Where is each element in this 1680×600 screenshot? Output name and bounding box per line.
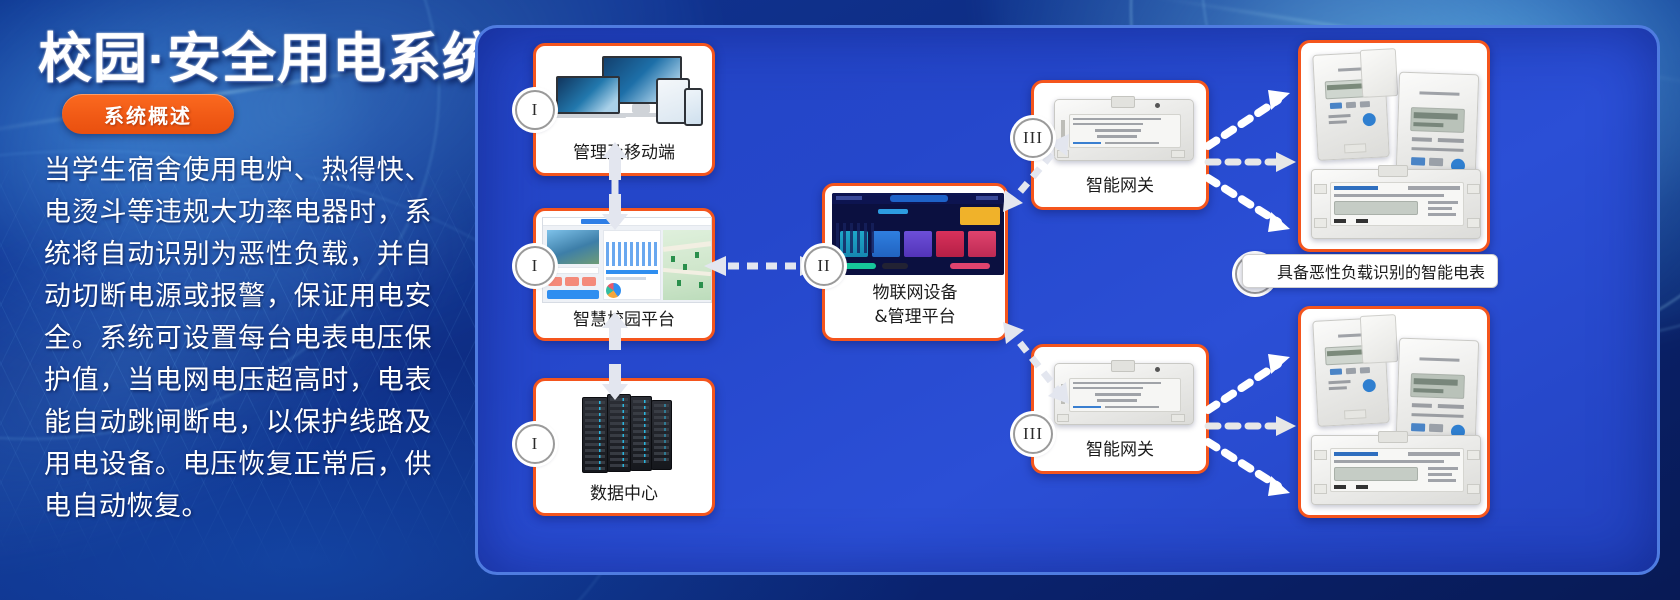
numeral-badge-gateway-top: III	[1013, 118, 1053, 158]
numeral-text: III	[1023, 128, 1043, 148]
section-badge-label: 系统概述	[104, 100, 192, 129]
numeral-badge-campus-platform: I	[515, 246, 555, 286]
connector-iot-to-gateway-bottom	[1003, 322, 1069, 404]
intro-panel: 校园·安全用电系统 系统概述 当学生宿舍使用电炉、热得快、电烫斗等违规大功率电器…	[0, 0, 470, 600]
numeral-badge-gateway-bottom: III	[1013, 414, 1053, 454]
poster-canvas: 校园·安全用电系统 系统概述 当学生宿舍使用电炉、热得快、电烫斗等违规大功率电器…	[0, 0, 1680, 600]
numeral-text: I	[532, 434, 539, 454]
numeral-badge-management: I	[515, 90, 555, 130]
numeral-badge-data-center: I	[515, 424, 555, 464]
numeral-text: I	[532, 256, 539, 276]
section-badge: 系统概述	[62, 94, 234, 134]
connector-management-to-platform	[602, 142, 628, 230]
numeral-text: III	[1023, 424, 1043, 444]
overview-paragraph: 当学生宿舍使用电炉、热得快、电烫斗等违规大功率电器时，系统将自动识别为恶性负载，…	[44, 150, 432, 528]
connector-platform-to-datacenter	[602, 312, 628, 400]
numeral-text: I	[532, 100, 539, 120]
smart-meters-caption[interactable]: 具备恶性负载识别的智能电表	[1242, 254, 1498, 288]
connector-layer	[478, 28, 1660, 575]
numeral-text: II	[817, 256, 830, 276]
smart-meters-caption-label: 具备恶性负载识别的智能电表	[1277, 259, 1485, 283]
connector-gateway-bottom-to-meters	[1208, 354, 1296, 496]
connector-gateway-top-to-meters	[1208, 90, 1296, 232]
architecture-diagram-panel: 管理及移动端 I	[475, 25, 1660, 575]
page-title: 校园·安全用电系统	[38, 14, 497, 93]
numeral-badge-iot-platform: II	[804, 246, 844, 286]
